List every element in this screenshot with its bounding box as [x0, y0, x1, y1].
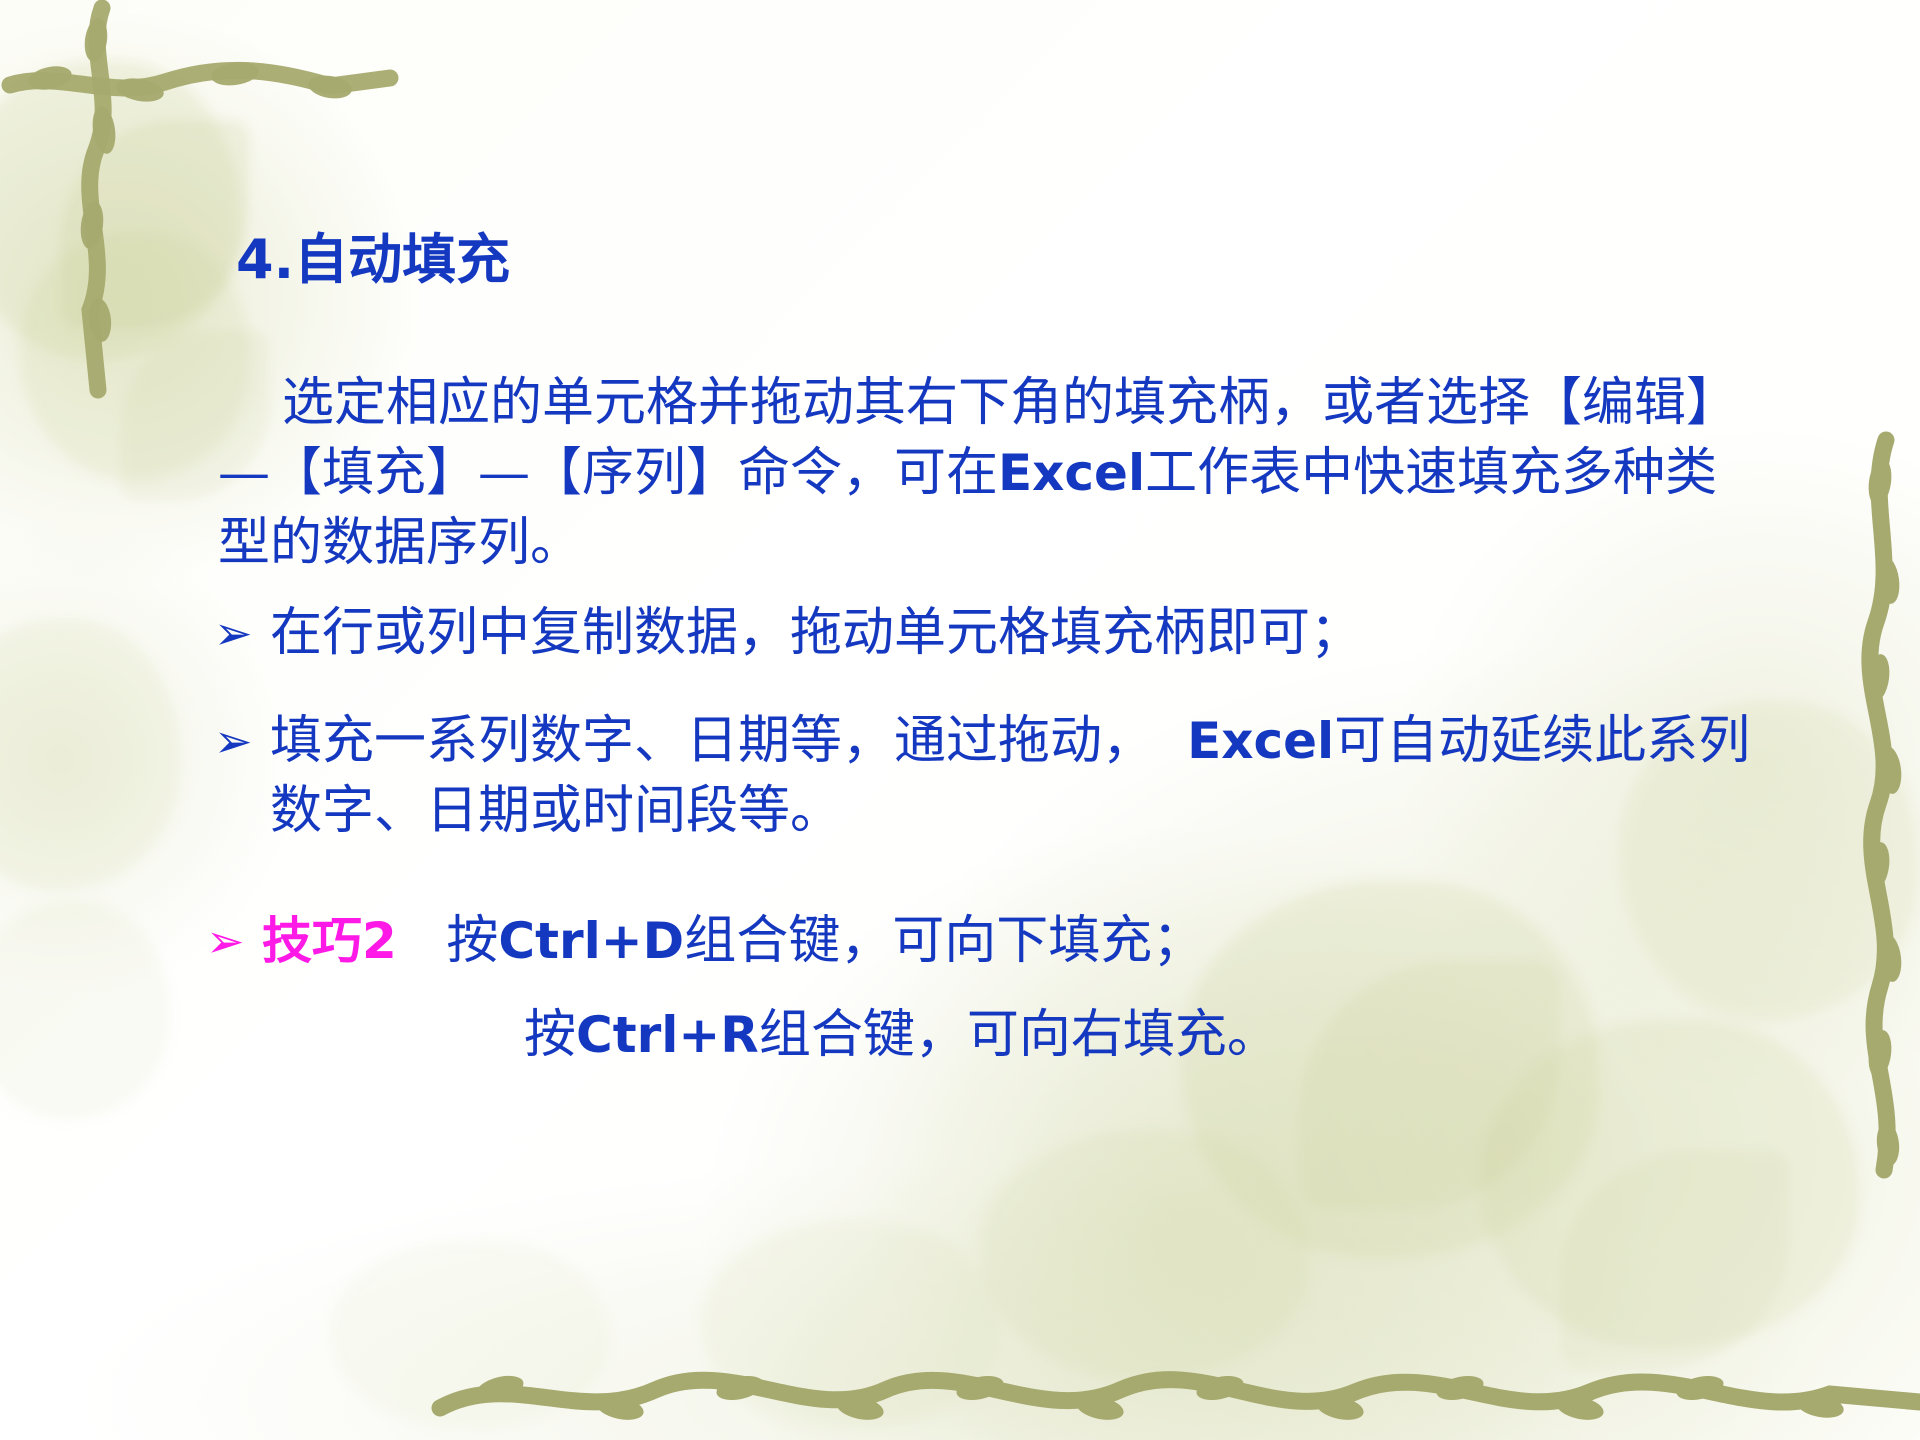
arrow-bullet-icon: ➢: [214, 598, 270, 668]
page-title: 4.自动填充: [236, 232, 510, 289]
intro-text-latin: Excel: [998, 444, 1145, 502]
bullet-item-copy-data: ➢ 在行或列中复制数据，拖动单元格填充柄即可；: [214, 598, 1754, 668]
tip-text-after: 组合键，可向下填充；: [684, 911, 1204, 971]
presentation-slide: 4.自动填充 选定相应的单元格并拖动其右下角的填充柄，或者选择【编辑】—【填充】…: [0, 0, 1920, 1440]
bullet-item-series-fill: ➢ 填充一系列数字、日期等，通过拖动， Excel可自动延续此系列数字、日期或时…: [214, 706, 1774, 846]
bullet-series-latin: Excel: [1187, 712, 1334, 770]
arrow-bullet-icon-pink: ➢: [206, 906, 262, 976]
arrow-bullet-icon: ➢: [214, 706, 270, 776]
bullet-series-text: 填充一系列数字、日期等，通过拖动， Excel可自动延续此系列数字、日期或时间段…: [270, 706, 1774, 846]
intro-paragraph: 选定相应的单元格并拖动其右下角的填充柄，或者选择【编辑】—【填充】—【序列】命令…: [218, 368, 1738, 578]
bullet-tip-text: 技巧2 按Ctrl+D组合键，可向下填充；: [262, 906, 1204, 976]
tip-spacer: 按: [397, 911, 499, 971]
bullet-item-tip: ➢ 技巧2 按Ctrl+D组合键，可向下填充；: [206, 906, 1766, 976]
tip-second-line: 按Ctrl+R组合键，可向右填充。: [524, 1000, 1279, 1070]
tip-highlight-label: 技巧2: [262, 912, 397, 970]
tip-shortcut-ctrl-d: Ctrl+D: [498, 912, 684, 970]
bullet-series-part1: 填充一系列数字、日期等，通过拖动，: [270, 711, 1187, 771]
tip2-prefix: 按: [524, 1005, 576, 1065]
tip-shortcut-ctrl-r: Ctrl+R: [576, 1006, 759, 1064]
bullet-copy-text: 在行或列中复制数据，拖动单元格填充柄即可；: [270, 598, 1362, 668]
slide-content: 4.自动填充 选定相应的单元格并拖动其右下角的填充柄，或者选择【编辑】—【填充】…: [0, 0, 1920, 1440]
tip2-suffix: 组合键，可向右填充。: [759, 1005, 1279, 1065]
